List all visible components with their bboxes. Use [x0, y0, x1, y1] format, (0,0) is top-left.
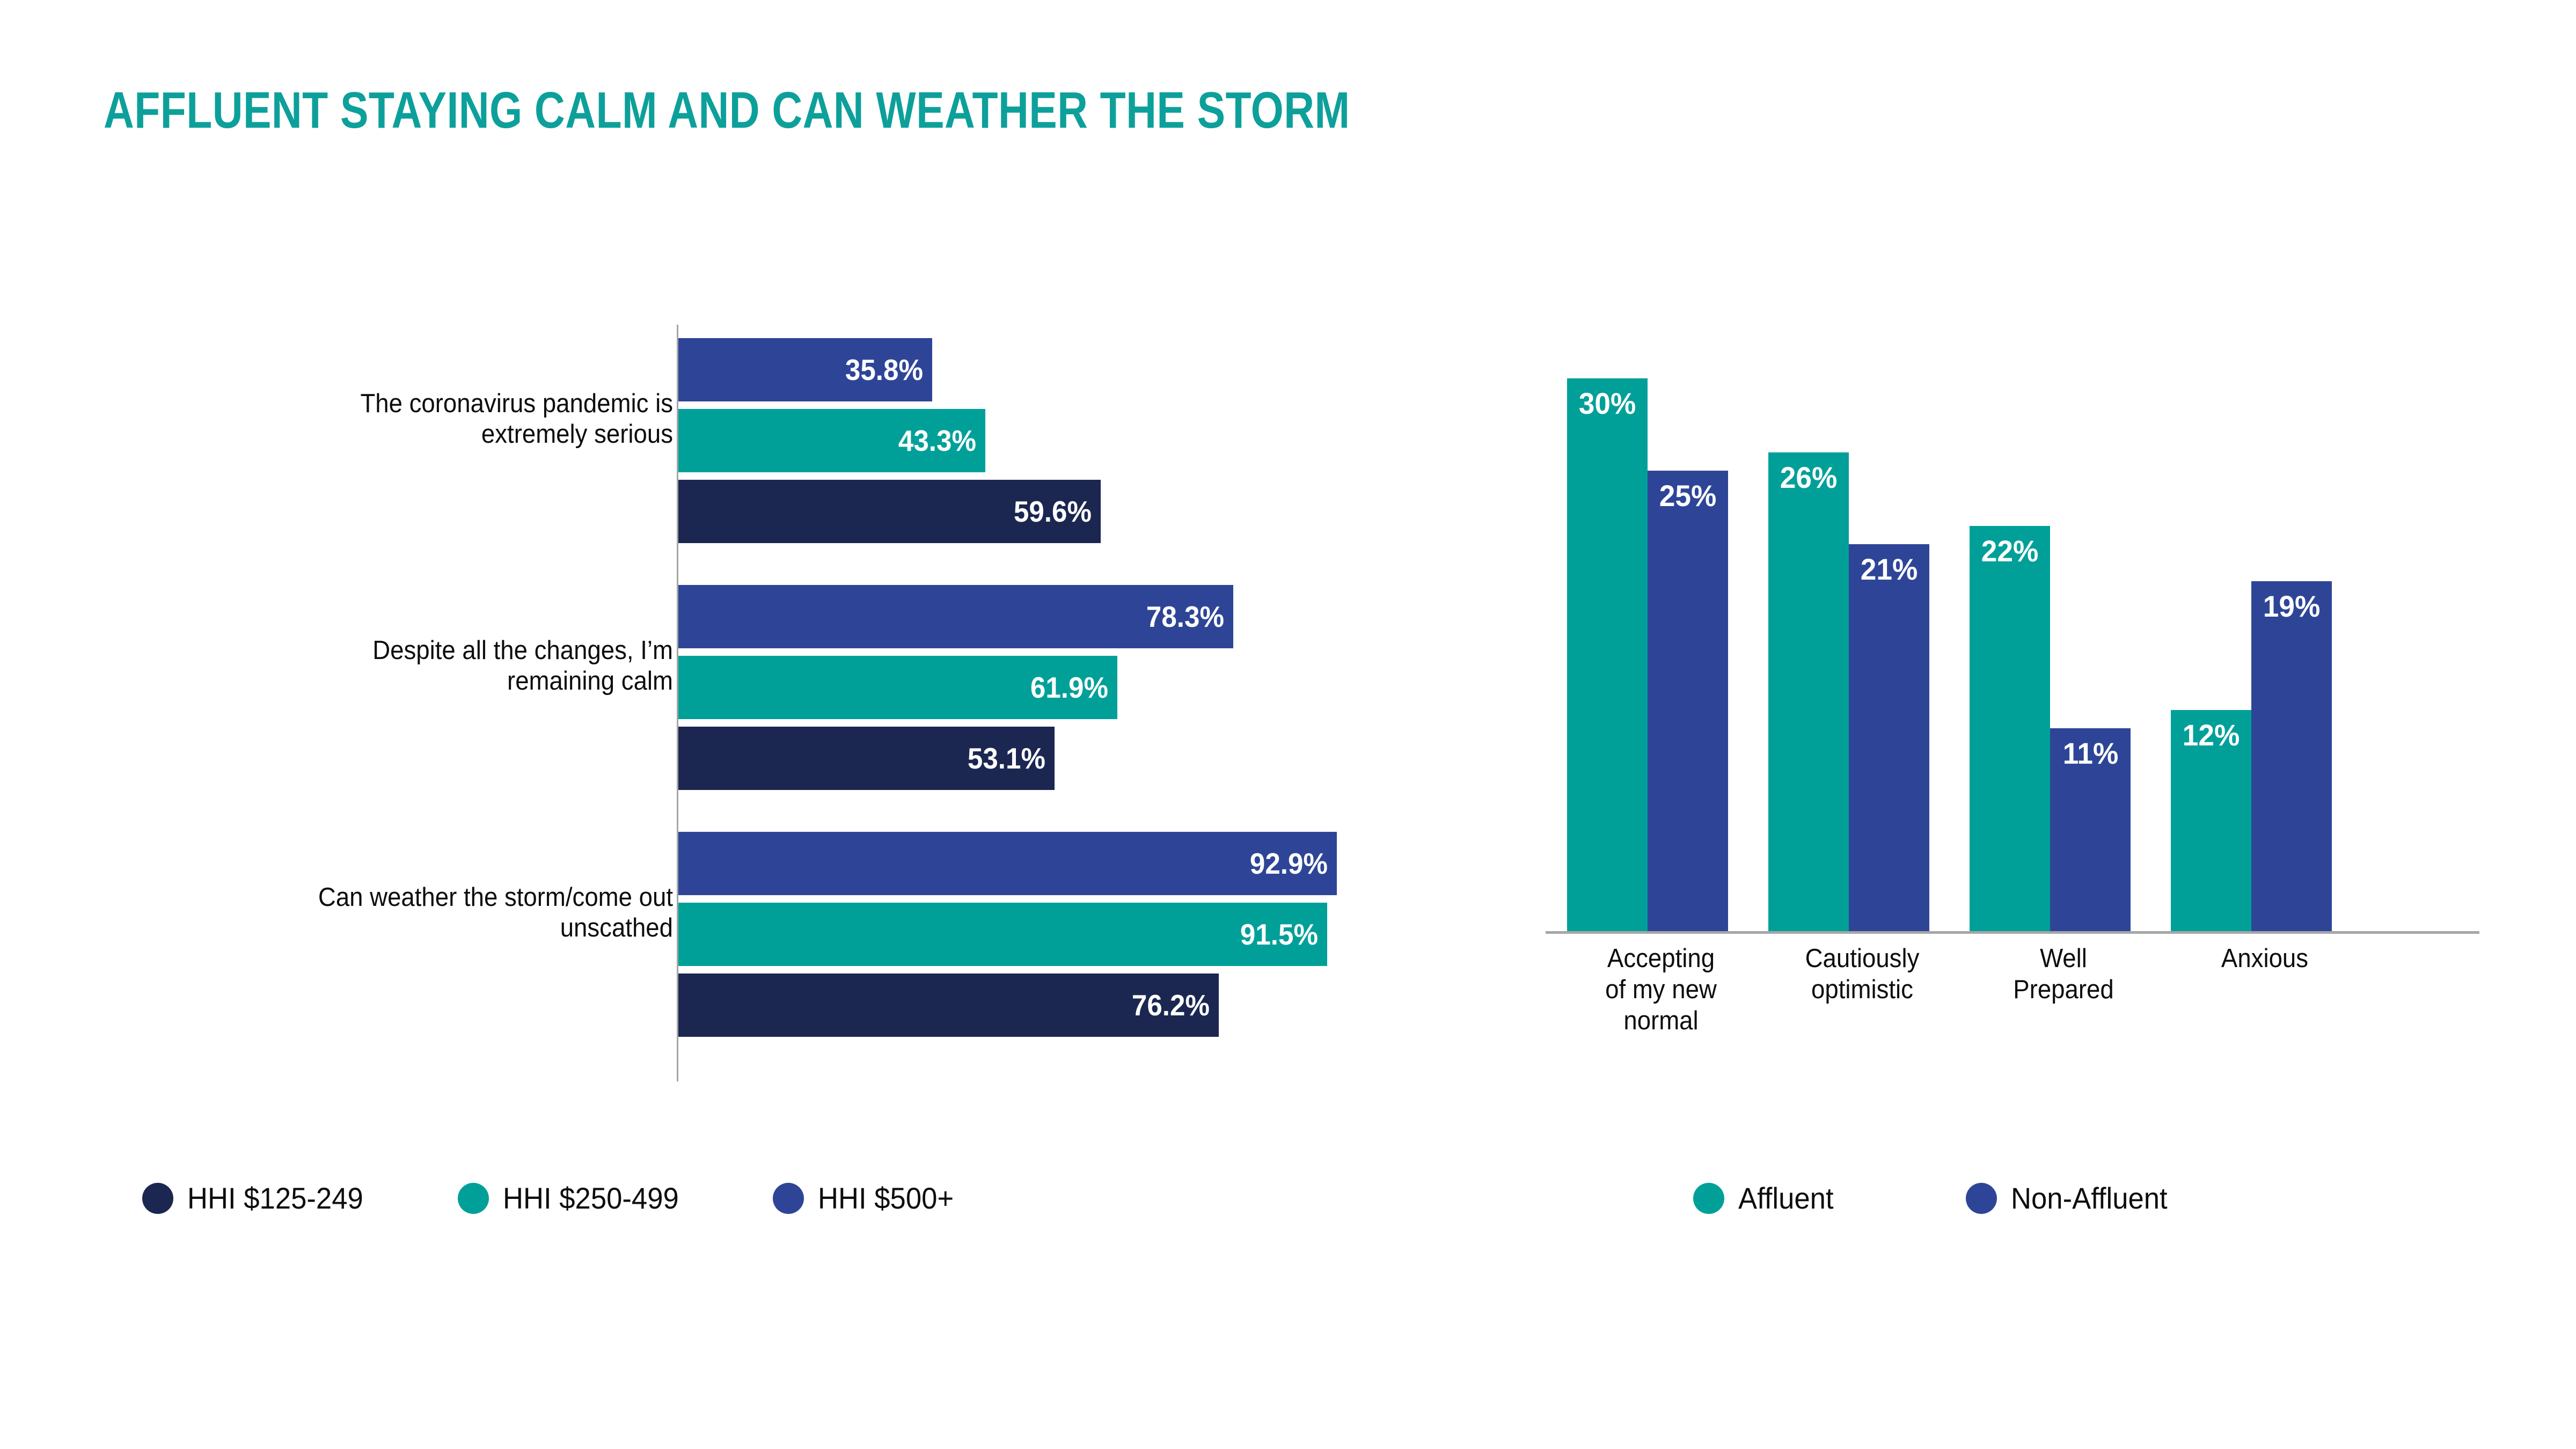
right-chart-category-label: Anxious: [2165, 943, 2365, 975]
bar-value-label: 19%: [2263, 589, 2320, 624]
page-title: AFFLUENT STAYING CALM AND CAN WEATHER TH…: [104, 85, 1350, 136]
right-chart-baseline: [1546, 931, 2479, 934]
legend-label: HHI $250-499: [503, 1181, 679, 1216]
bar-hhi-500plus: 92.9%: [678, 832, 1337, 895]
bar-hhi-125-249: 59.6%: [678, 480, 1101, 543]
left-chart-group: Can weather the storm/come out unscathed…: [0, 832, 1449, 1046]
bar-value-label: 59.6%: [1014, 494, 1092, 529]
legend-swatch-icon: [773, 1183, 804, 1214]
right-chart-category-label: Well Prepared: [1964, 943, 2163, 1006]
legend-item-non-affluent[interactable]: Non-Affluent: [1966, 1181, 2177, 1216]
legend-label: HHI $500+: [818, 1181, 954, 1216]
legend-label: Affluent: [1738, 1181, 1834, 1216]
bar-non-affluent: 21%: [1849, 544, 1929, 931]
left-chart-category-label: The coronavirus pandemic is extremely se…: [174, 389, 673, 450]
bar-affluent: 22%: [1970, 526, 2050, 931]
bar-value-label: 21%: [1861, 552, 1918, 587]
bar-value-label: 92.9%: [1250, 846, 1328, 881]
bar-affluent: 26%: [1768, 452, 1849, 931]
bar-value-label: 91.5%: [1240, 917, 1318, 952]
right-bar-chart: 30% 25% Accepting of my new normal 26% 2…: [1535, 333, 2490, 934]
bar-affluent: 30%: [1567, 378, 1648, 931]
bar-affluent: 12%: [2171, 710, 2251, 931]
bar-hhi-250-499: 43.3%: [678, 409, 985, 472]
legend-label: HHI $125-249: [187, 1181, 363, 1216]
bar-hhi-500plus: 35.8%: [678, 338, 932, 401]
bar-value-label: 25%: [1659, 478, 1716, 513]
legend-item-hhi-500plus[interactable]: HHI $500+: [773, 1181, 962, 1216]
bar-non-affluent: 25%: [1648, 471, 1728, 931]
legend-item-hhi-250-499[interactable]: HHI $250-499: [458, 1181, 690, 1216]
left-bar-chart: The coronavirus pandemic is extremely se…: [0, 301, 1449, 1116]
left-chart-category-label: Despite all the changes, I’m remaining c…: [174, 635, 673, 697]
bar-value-label: 35.8%: [845, 353, 923, 387]
left-chart-group: The coronavirus pandemic is extremely se…: [0, 338, 1449, 553]
left-chart-category-label: Can weather the storm/come out unscathed: [174, 882, 673, 943]
bar-value-label: 30%: [1579, 386, 1636, 421]
bar-value-label: 26%: [1780, 460, 1837, 495]
legend-swatch-icon: [142, 1183, 173, 1214]
bar-hhi-250-499: 91.5%: [678, 903, 1327, 966]
right-chart-category-label: Accepting of my new normal: [1561, 943, 1761, 1036]
bar-non-affluent: 11%: [2050, 728, 2131, 931]
bar-value-label: 22%: [1981, 533, 2038, 568]
legend-swatch-icon: [1693, 1183, 1724, 1214]
left-chart-group: Despite all the changes, I’m remaining c…: [0, 585, 1449, 800]
right-chart-legend: Affluent Non-Affluent: [1693, 1181, 2177, 1216]
bar-value-label: 76.2%: [1132, 988, 1210, 1022]
bar-non-affluent: 19%: [2251, 581, 2332, 931]
legend-swatch-icon: [1966, 1183, 1997, 1214]
bar-value-label: 61.9%: [1030, 670, 1108, 705]
bar-hhi-500plus: 78.3%: [678, 585, 1233, 648]
legend-swatch-icon: [458, 1183, 489, 1214]
bar-value-label: 53.1%: [968, 741, 1045, 775]
bar-hhi-125-249: 76.2%: [678, 974, 1219, 1037]
bar-value-label: 12%: [2183, 718, 2240, 752]
slide-canvas: AFFLUENT STAYING CALM AND CAN WEATHER TH…: [0, 0, 2576, 1449]
bar-value-label: 43.3%: [898, 423, 976, 458]
legend-item-hhi-125-249[interactable]: HHI $125-249: [142, 1181, 375, 1216]
bar-hhi-250-499: 61.9%: [678, 656, 1117, 719]
left-chart-legend: HHI $125-249 HHI $250-499 HHI $500+: [142, 1181, 963, 1216]
bar-value-label: 11%: [2062, 736, 2118, 771]
bar-hhi-125-249: 53.1%: [678, 727, 1055, 790]
legend-item-affluent[interactable]: Affluent: [1693, 1181, 1840, 1216]
bar-value-label: 78.3%: [1146, 599, 1224, 634]
right-chart-category-label: Cautiously optimistic: [1762, 943, 1962, 1006]
legend-label: Non-Affluent: [2011, 1181, 2168, 1216]
